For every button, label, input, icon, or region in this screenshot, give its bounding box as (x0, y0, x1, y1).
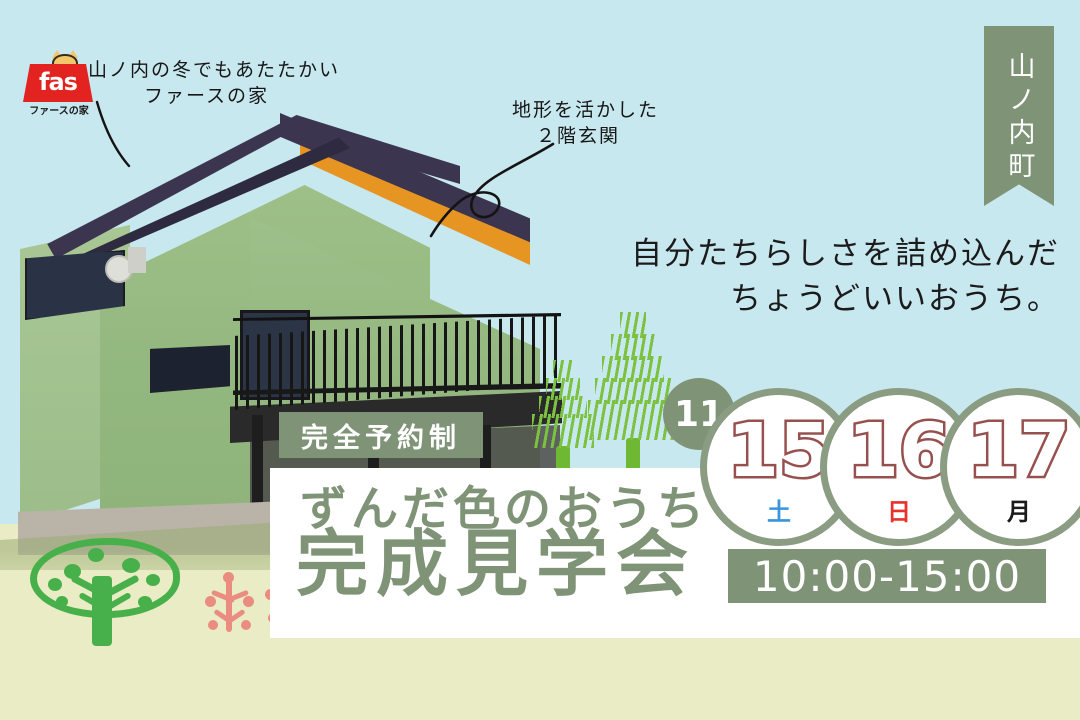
sprig-stem (226, 580, 232, 632)
date-weekday: 月 (947, 492, 1080, 527)
sprig-bud (243, 596, 254, 607)
sprig-bud (208, 620, 218, 630)
annotation-right-line1: 地形を活かした (512, 99, 659, 121)
sprig-bud (241, 620, 251, 630)
pine-tree-large-icon (588, 312, 678, 472)
event-time: 10:00-15:00 (728, 549, 1046, 603)
pine-trunk (626, 438, 640, 472)
reservation-badge: 完全予約制 (279, 412, 483, 458)
tree-fruit (88, 548, 104, 562)
date-circle-3: 17 月 (940, 388, 1080, 546)
annotation-left-line1: 山ノ内の冬でもあたたかい (88, 59, 340, 81)
leader-line-right-icon (425, 140, 565, 250)
tree-fruit (138, 596, 152, 608)
logo-mark-text: fas (23, 68, 93, 96)
logo-sub-text: ファースの家 (20, 102, 98, 117)
event-title: 完成見学会 (296, 528, 696, 600)
pine-tier (532, 414, 594, 448)
tagline: 自分たちらしさを詰め込んだ ちょうどいいおうち。 (580, 232, 1060, 321)
wall-fixture (128, 247, 146, 273)
tagline-line1: 自分たちらしさを詰め込んだ (580, 232, 1060, 277)
sprout-left-icon (205, 570, 253, 632)
date-number: 17 (947, 409, 1080, 493)
pine-tree-small-icon (528, 360, 598, 480)
tree-fruit (122, 558, 140, 573)
town-ribbon: 山ノ内町 (984, 26, 1054, 206)
event-poster: fas ファースの家 山ノ内の冬でもあたたかい ファースの家 地形を活かした ２… (0, 0, 1080, 720)
tree-fruit (48, 578, 62, 591)
tree-fruit (146, 574, 160, 586)
tree-fruit (56, 596, 68, 607)
town-ribbon-label: 山ノ内町 (1000, 52, 1039, 184)
tree-trunk (92, 576, 112, 646)
sprig-bud (223, 572, 234, 583)
fas-logo: fas ファースの家 (20, 52, 98, 120)
fruit-tree-icon (30, 538, 180, 648)
sprig-bud (205, 596, 216, 607)
leader-line-left-icon (95, 100, 155, 180)
house-window-lower (150, 345, 230, 393)
